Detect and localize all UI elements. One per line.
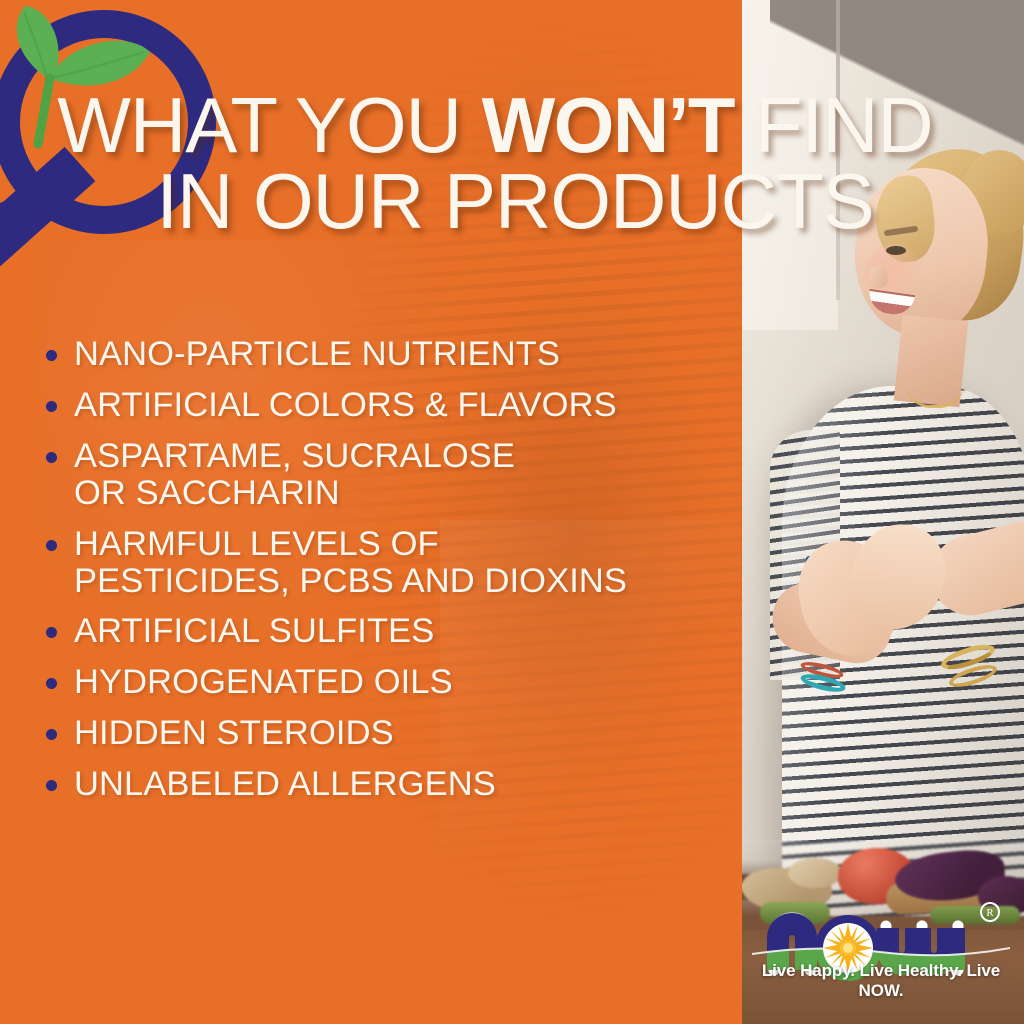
list-item-label: ARTIFICIAL SULFITES (74, 613, 434, 650)
bullet-dot-icon (46, 452, 57, 463)
headline-line-1: WHAT YOU WON’T FIND (0, 88, 990, 164)
list-item: HARMFUL LEVELS OF PESTICIDES, PCBS AND D… (40, 526, 740, 600)
svg-text:R: R (986, 907, 994, 919)
list-item: HYDROGENATED OILS (40, 664, 740, 701)
list-item: ARTIFICIAL COLORS & FLAVORS (40, 387, 740, 424)
brand-tagline: Live Happy. Live Healthy. Live NOW. (752, 961, 1010, 1001)
poster-canvas: WHAT YOU WON’T FIND IN OUR PRODUCTS NANO… (0, 0, 1024, 1024)
bullet-dot-icon (46, 729, 57, 740)
headline-prefix: WHAT YOU (57, 81, 481, 169)
excluded-ingredients-list: NANO-PARTICLE NUTRIENTS ARTIFICIAL COLOR… (40, 336, 740, 817)
bullet-dot-icon (46, 780, 57, 791)
list-item: UNLABELED ALLERGENS (40, 766, 740, 803)
nose (870, 266, 888, 288)
registered-trademark-icon: R (981, 903, 999, 921)
bullet-dot-icon (46, 350, 57, 361)
headline-line-2: IN OUR PRODUCTS (0, 164, 990, 240)
headline-emphasis: WON’T (482, 81, 734, 169)
headline-suffix: FIND (734, 81, 933, 169)
list-item: NANO-PARTICLE NUTRIENTS (40, 336, 740, 373)
bullet-dot-icon (46, 627, 57, 638)
list-item-label: ASPARTAME, SUCRALOSE OR SACCHARIN (74, 438, 515, 512)
list-item-label: HARMFUL LEVELS OF PESTICIDES, PCBS AND D… (74, 526, 627, 600)
list-item-label: HIDDEN STEROIDS (74, 715, 394, 752)
bullet-dot-icon (46, 678, 57, 689)
bullet-dot-icon (46, 540, 57, 551)
list-item: ASPARTAME, SUCRALOSE OR SACCHARIN (40, 438, 740, 512)
eye (886, 246, 906, 255)
list-item-label: HYDROGENATED OILS (74, 664, 453, 701)
poster-headline: WHAT YOU WON’T FIND IN OUR PRODUCTS (0, 88, 990, 239)
list-item-label: NANO-PARTICLE NUTRIENTS (74, 336, 560, 373)
list-item: ARTIFICIAL SULFITES (40, 613, 740, 650)
bullet-dot-icon (46, 401, 57, 412)
list-item: HIDDEN STEROIDS (40, 715, 740, 752)
list-item-label: ARTIFICIAL COLORS & FLAVORS (74, 387, 617, 424)
list-item-label: UNLABELED ALLERGENS (74, 766, 496, 803)
